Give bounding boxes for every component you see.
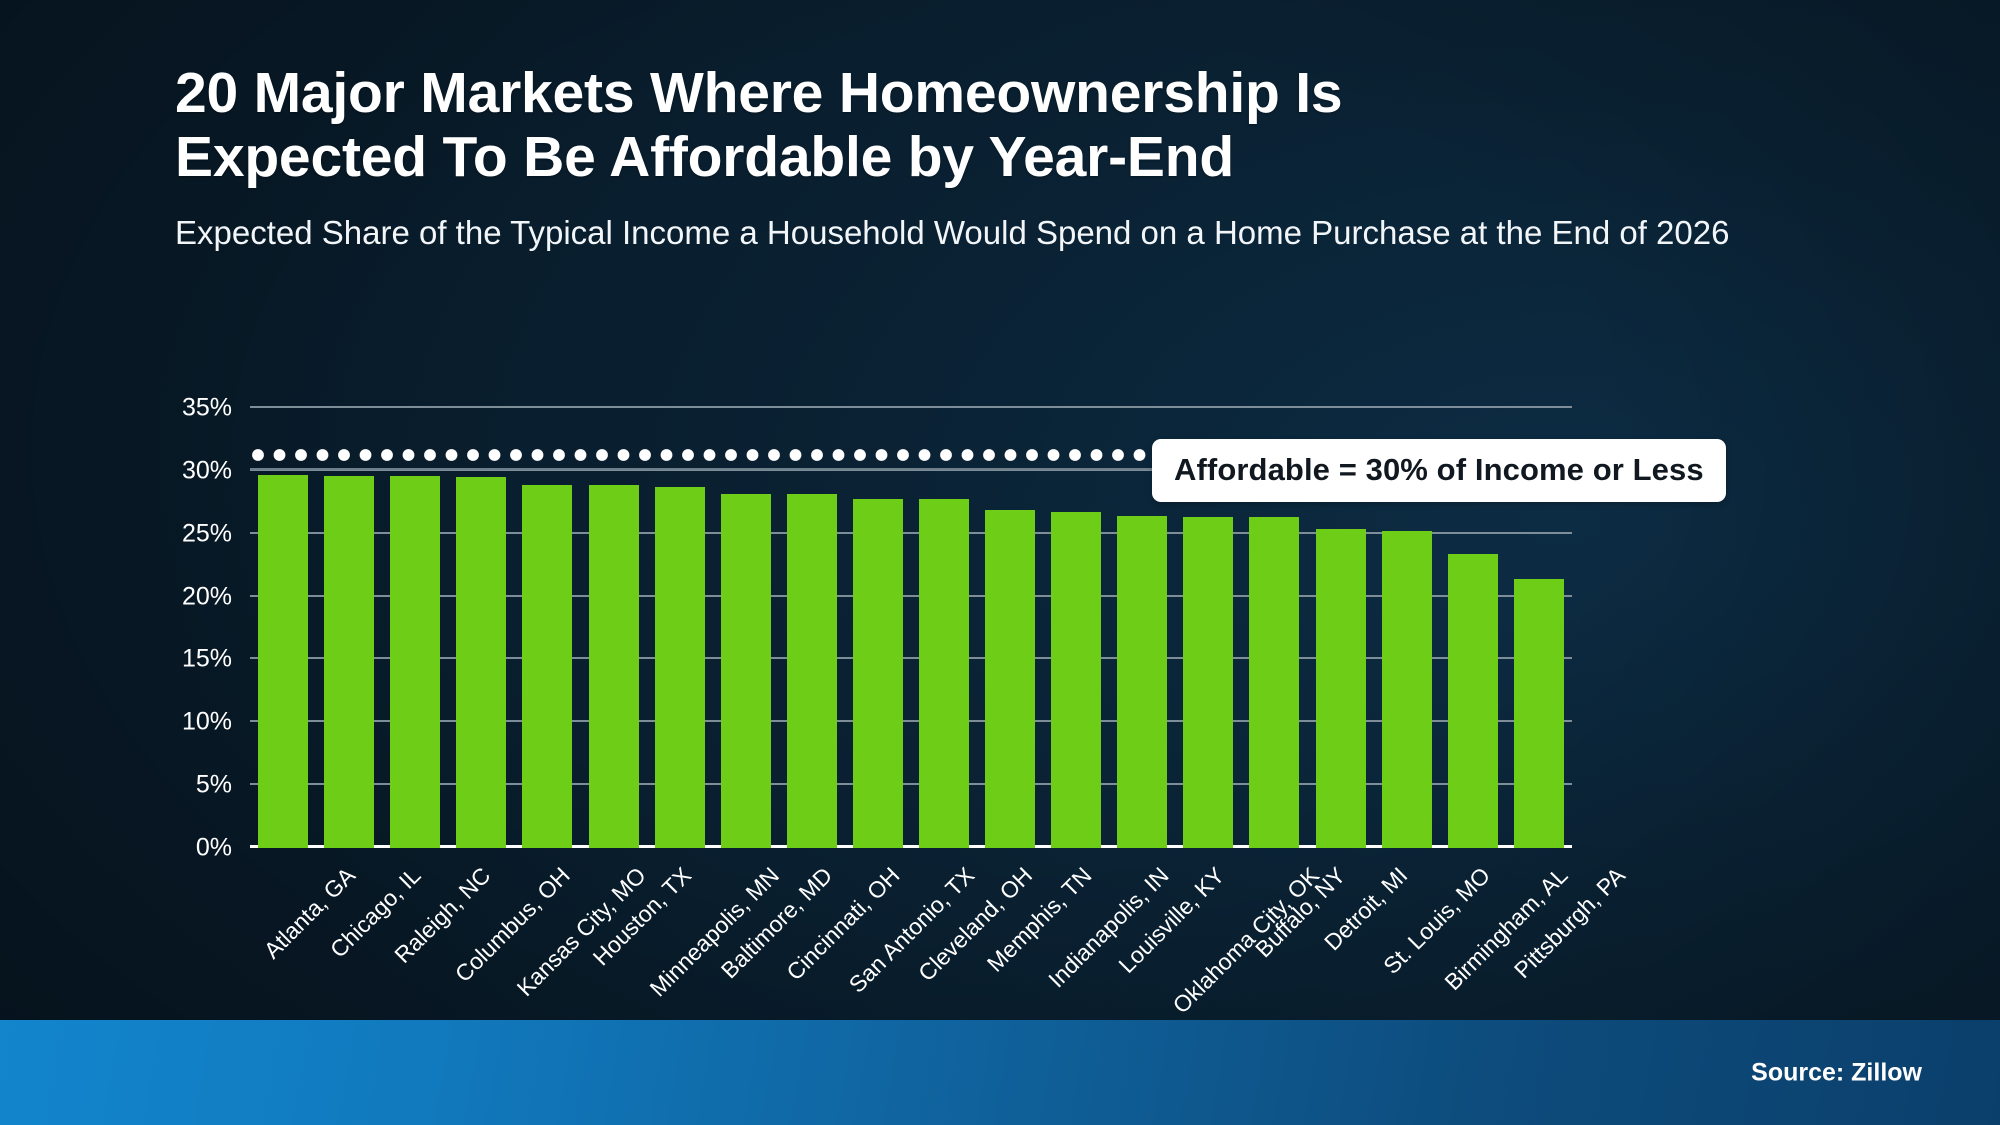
bar[interactable] [589, 485, 639, 848]
bar[interactable] [853, 499, 903, 848]
x-axis-label-slot: Buffalo, NY [1241, 856, 1307, 986]
bar[interactable] [985, 510, 1035, 848]
y-axis-tick-label: 30% [182, 456, 232, 485]
bar[interactable] [1117, 516, 1167, 848]
source-credit: Source: Zillow [1751, 1058, 1922, 1087]
x-axis-label-slot: St. Louis, MO [1374, 856, 1440, 986]
bar-column[interactable] [779, 408, 845, 848]
y-axis-tick-label: 10% [182, 708, 232, 737]
x-axis-label-slot: Louisville, KY [1109, 856, 1175, 986]
bar[interactable] [324, 476, 374, 848]
bar-chart: 35%30%25%20%15%10%5%0% Atlanta, GAChicag… [0, 0, 2000, 1020]
x-axis-label-slot: Birmingham, AL [1440, 856, 1506, 986]
y-axis-tick-label: 25% [182, 519, 232, 548]
bar-column[interactable] [713, 408, 779, 848]
bar[interactable] [1448, 554, 1498, 848]
bar[interactable] [1382, 531, 1432, 848]
footer-bar: Source: Zillow [0, 1020, 2000, 1125]
x-axis-label-slot: Detroit, MI [1308, 856, 1374, 986]
bar-column[interactable] [448, 408, 514, 848]
x-axis-label-slot: Baltimore, MD [713, 856, 779, 986]
x-axis-label-slot: Indianapolis, IN [1043, 856, 1109, 986]
bar-column[interactable] [250, 408, 316, 848]
bar-column[interactable] [1043, 408, 1109, 848]
y-axis-tick-label: 5% [196, 771, 232, 800]
bar-column[interactable] [514, 408, 580, 848]
x-axis-label-slot: Columbus, OH [448, 856, 514, 986]
bar[interactable] [721, 494, 771, 849]
x-axis-label-slot: Atlanta, GA [250, 856, 316, 986]
y-axis-tick-label: 15% [182, 645, 232, 674]
bar[interactable] [655, 487, 705, 848]
x-axis-labels: Atlanta, GAChicago, ILRaleigh, NCColumbu… [250, 856, 1572, 986]
bar[interactable] [522, 485, 572, 848]
x-axis-label-slot: Memphis, TN [977, 856, 1043, 986]
x-axis-label-slot: Pittsburgh, PA [1506, 856, 1572, 986]
bar[interactable] [390, 476, 440, 848]
bar-column[interactable] [316, 408, 382, 848]
x-axis-label-slot: Raleigh, NC [382, 856, 448, 986]
bar[interactable] [1183, 517, 1233, 848]
x-axis-label-slot: Kansas City, MO [514, 856, 580, 986]
x-axis-label-slot: Chicago, IL [316, 856, 382, 986]
y-axis-tick-label: 0% [196, 834, 232, 863]
x-axis-label-slot: Houston, TX [580, 856, 646, 986]
bar[interactable] [258, 475, 308, 848]
bar-column[interactable] [977, 408, 1043, 848]
y-axis-tick-label: 20% [182, 582, 232, 611]
x-axis-label-slot: San Antonio, TX [845, 856, 911, 986]
bar[interactable] [1316, 529, 1366, 848]
bar-column[interactable] [845, 408, 911, 848]
bar-column[interactable] [911, 408, 977, 848]
x-axis-label-slot: Cincinnati, OH [779, 856, 845, 986]
bar-column[interactable] [647, 408, 713, 848]
x-axis-label-slot: Cleveland, OH [911, 856, 977, 986]
bar-column[interactable] [580, 408, 646, 848]
bar[interactable] [919, 499, 969, 848]
bar[interactable] [787, 494, 837, 849]
bar-column[interactable] [382, 408, 448, 848]
bar[interactable] [456, 477, 506, 848]
bar[interactable] [1514, 579, 1564, 848]
affordability-annotation: Affordable = 30% of Income or Less [1152, 439, 1726, 502]
bar[interactable] [1249, 517, 1299, 848]
x-axis-label-slot: Oklahoma City, OK [1175, 856, 1241, 986]
y-axis-tick-label: 35% [182, 394, 232, 423]
bar[interactable] [1051, 512, 1101, 848]
annotation-label: Affordable = 30% of Income or Less [1174, 452, 1704, 487]
x-axis-tick-label: Pittsburgh, PA [1509, 862, 1631, 984]
x-axis-label-slot: Minneapolis, MN [647, 856, 713, 986]
